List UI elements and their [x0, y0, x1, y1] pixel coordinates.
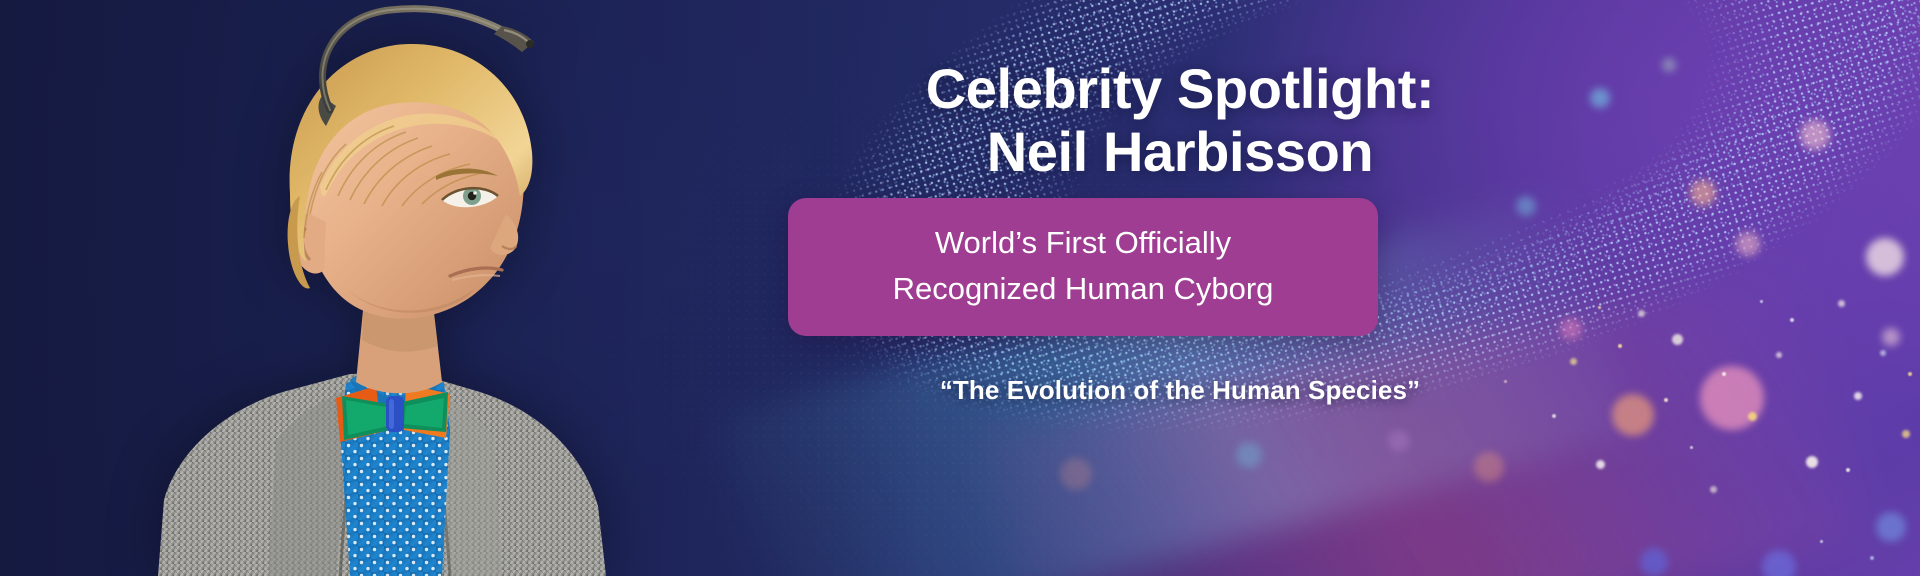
- celebrity-spotlight-banner: Celebrity Spotlight: Neil Harbisson Worl…: [0, 0, 1920, 576]
- status-badge: World’s First Officially Recognized Huma…: [788, 198, 1378, 336]
- headline-line-1: Celebrity Spotlight:: [780, 58, 1580, 121]
- badge-line-1: World’s First Officially: [818, 220, 1348, 266]
- portrait-neil-harbisson: [150, 0, 620, 576]
- banner-content: Celebrity Spotlight: Neil Harbisson Worl…: [780, 0, 1580, 576]
- page-title: Celebrity Spotlight: Neil Harbisson: [780, 58, 1580, 183]
- badge-line-2: Recognized Human Cyborg: [818, 266, 1348, 312]
- headline-line-2: Neil Harbisson: [780, 121, 1580, 184]
- tagline-quote: “The Evolution of the Human Species”: [780, 375, 1580, 406]
